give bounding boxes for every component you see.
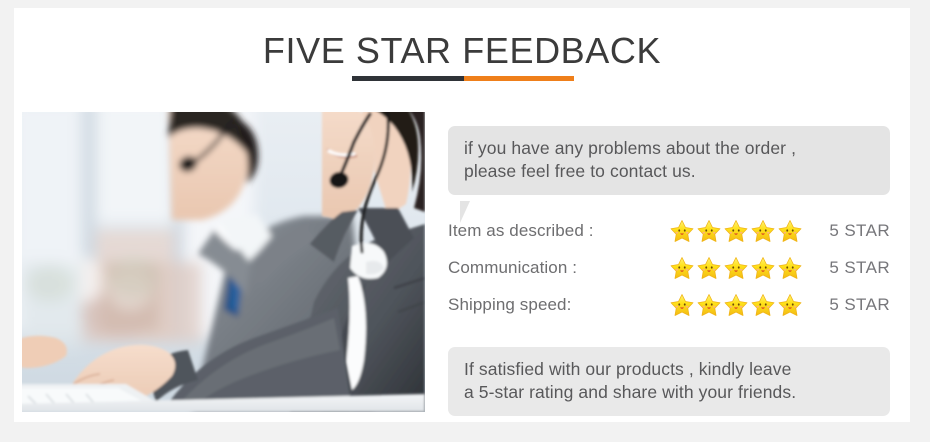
- smiley-star-icon: [751, 219, 775, 243]
- rating-value: 5 STAR: [810, 221, 896, 241]
- smiley-star-icon: [751, 256, 775, 280]
- smiley-star-icon: [670, 256, 694, 280]
- smiley-star-icon: [778, 293, 802, 317]
- smiley-star-icon: [724, 219, 748, 243]
- smiley-star-icon: [751, 293, 775, 317]
- star-rating-shipping-speed: [670, 293, 810, 317]
- rating-label: Item as described :: [448, 221, 670, 241]
- feedback-content: if you have any problems about the order…: [448, 112, 896, 412]
- support-message-line-1: if you have any problems about the order…: [464, 137, 876, 160]
- smiley-star-icon: [697, 293, 721, 317]
- smiley-star-icon: [670, 293, 694, 317]
- rating-value: 5 STAR: [810, 295, 896, 315]
- rating-row-item-as-described: Item as described : 5 STAR: [448, 212, 896, 249]
- rating-row-shipping-speed: Shipping speed: 5 STAR: [448, 286, 896, 323]
- rating-label: Communication :: [448, 258, 670, 278]
- title-underline: [352, 76, 574, 81]
- rating-row-communication: Communication : 5 STAR: [448, 249, 896, 286]
- smiley-star-icon: [778, 256, 802, 280]
- ratings-list: Item as described : 5 STAR Communication…: [448, 212, 896, 323]
- rating-label: Shipping speed:: [448, 295, 670, 315]
- feedback-banner: FIVE STAR FEEDBACK: [0, 0, 930, 442]
- star-rating-communication: [670, 256, 810, 280]
- support-message-bubble: if you have any problems about the order…: [448, 126, 890, 195]
- rating-request-line-2: a 5-star rating and share with your frie…: [464, 381, 878, 404]
- title-underline-dark-segment: [352, 76, 464, 81]
- smiley-star-icon: [724, 256, 748, 280]
- title-underline-accent-segment: [464, 76, 574, 81]
- smiley-star-icon: [670, 219, 694, 243]
- rating-value: 5 STAR: [810, 258, 896, 278]
- rating-request-line-1: If satisfied with our products , kindly …: [464, 358, 878, 381]
- rating-request-note: If satisfied with our products , kindly …: [448, 347, 890, 416]
- smiley-star-icon: [724, 293, 748, 317]
- smiley-star-icon: [697, 256, 721, 280]
- smiley-star-icon: [697, 219, 721, 243]
- feedback-card: FIVE STAR FEEDBACK: [14, 8, 910, 422]
- page-title: FIVE STAR FEEDBACK: [14, 30, 910, 72]
- support-message-line-2: please feel free to contact us.: [464, 160, 876, 183]
- customer-service-photo: [22, 112, 425, 412]
- star-rating-item-as-described: [670, 219, 810, 243]
- smiley-star-icon: [778, 219, 802, 243]
